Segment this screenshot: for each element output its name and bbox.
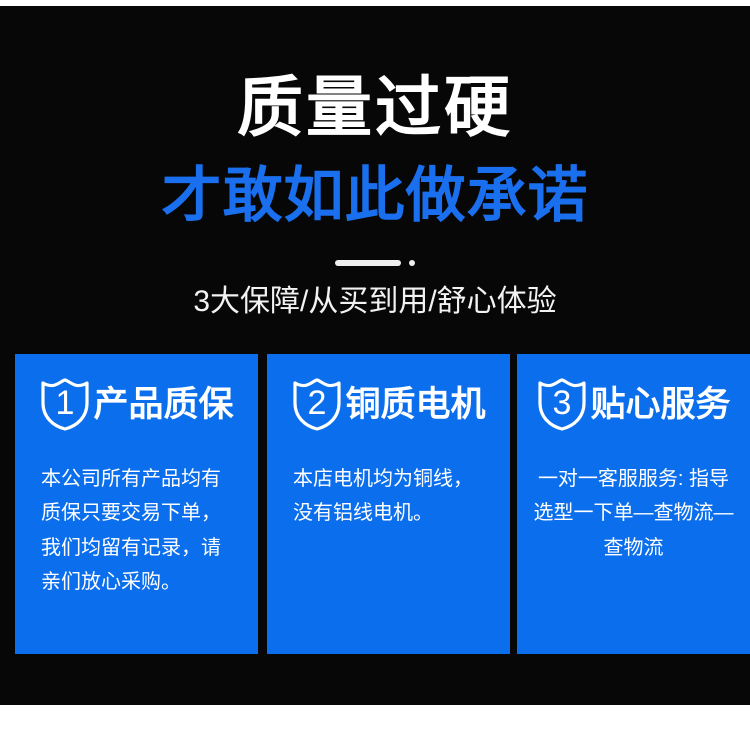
banner-stage: 质量过硬 才敢如此做承诺 3大保障/从买到用/舒心体验 1 产品质保 本公司所有… bbox=[0, 6, 750, 705]
shield-icon: 3 bbox=[536, 376, 588, 432]
shield-icon: 1 bbox=[39, 376, 91, 432]
card-body: 本公司所有产品均有质保只要交易下单，我们均留有记录，请亲们放心采购。 bbox=[15, 462, 258, 600]
card-title: 产品质保 bbox=[93, 387, 233, 422]
shield-number: 3 bbox=[553, 384, 572, 422]
guarantee-card: 2 铜质电机 本店电机均为铜线，没有铝线电机。 bbox=[267, 354, 510, 654]
divider-dot bbox=[409, 260, 415, 266]
card-title: 贴心服务 bbox=[590, 387, 730, 422]
shield-number: 2 bbox=[308, 384, 327, 422]
guarantee-card: 3 贴心服务 一对一客服服务: 指导选型一下单—查物流—查物流 bbox=[517, 354, 750, 654]
headline-sub: 才敢如此做承诺 bbox=[0, 166, 750, 226]
guarantee-card: 1 产品质保 本公司所有产品均有质保只要交易下单，我们均留有记录，请亲们放心采购… bbox=[15, 354, 258, 654]
shield-number: 1 bbox=[56, 384, 75, 422]
tagline: 3大保障/从买到用/舒心体验 bbox=[0, 284, 750, 320]
card-header: 1 产品质保 bbox=[15, 376, 258, 432]
card-body: 一对一客服服务: 指导选型一下单—查物流—查物流 bbox=[517, 462, 750, 565]
card-header: 2 铜质电机 bbox=[267, 376, 510, 432]
headline-main: 质量过硬 bbox=[0, 74, 750, 140]
promo-banner: 质量过硬 才敢如此做承诺 3大保障/从买到用/舒心体验 1 产品质保 本公司所有… bbox=[0, 0, 750, 732]
shield-icon: 2 bbox=[291, 376, 343, 432]
guarantee-card-list: 1 产品质保 本公司所有产品均有质保只要交易下单，我们均留有记录，请亲们放心采购… bbox=[15, 354, 750, 654]
card-header: 3 贴心服务 bbox=[517, 376, 750, 432]
card-body: 本店电机均为铜线，没有铝线电机。 bbox=[267, 462, 510, 531]
card-title: 铜质电机 bbox=[345, 387, 485, 422]
divider-bar bbox=[335, 260, 401, 266]
divider bbox=[0, 258, 750, 268]
